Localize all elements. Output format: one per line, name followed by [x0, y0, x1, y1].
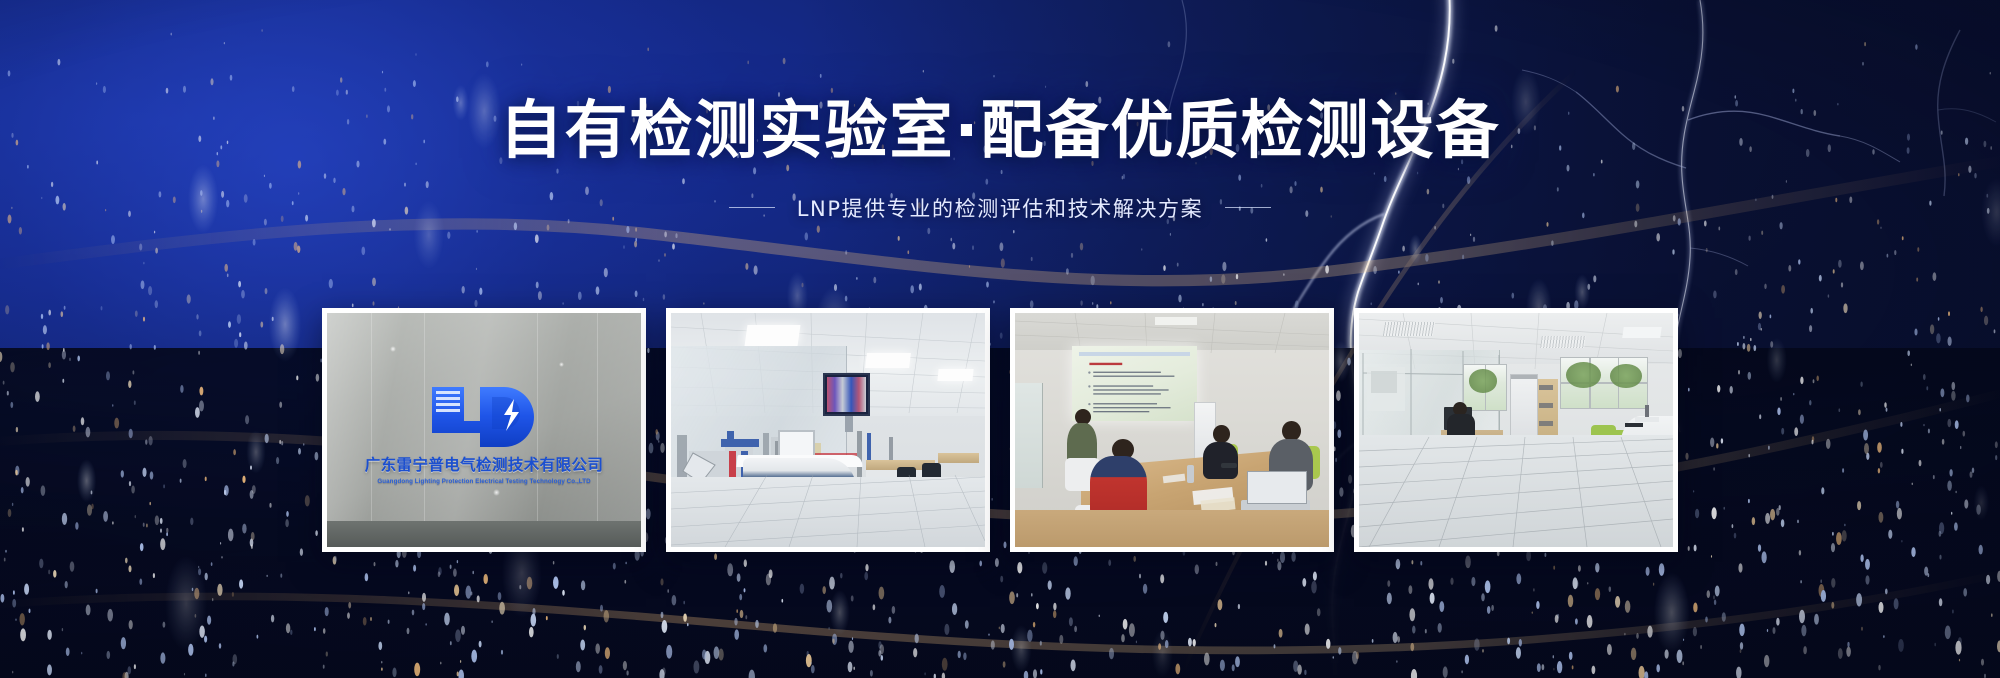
office-photo	[1359, 313, 1673, 547]
laboratory-photo	[671, 313, 985, 547]
light-speck	[493, 489, 500, 496]
slide-content	[1072, 346, 1198, 421]
ceiling-light	[865, 353, 911, 368]
slide-title-bar	[1079, 352, 1190, 356]
tree-foliage	[1610, 364, 1641, 387]
projection-screen	[1072, 346, 1198, 421]
gallery-card-company-sign[interactable]: 广东雷宁普电气检测技术有限公司 Guangdong Lighting Prote…	[322, 308, 646, 552]
company-name-cn: 广东雷宁普电气检测技术有限公司	[365, 453, 604, 475]
attendee-head	[1282, 421, 1301, 441]
meeting-room-photo	[1015, 313, 1329, 547]
ceiling-light	[1622, 327, 1661, 338]
rule-right-icon	[1225, 207, 1271, 208]
gallery-card-office[interactable]	[1354, 308, 1678, 552]
attendee-head	[1213, 425, 1230, 443]
page-subtitle: LNP提供专业的检测评估和技术解决方案	[797, 193, 1203, 223]
banner-stage: 自有检测实验室·配备优质检测设备 LNP提供专业的检测评估和技术解决方案	[0, 0, 2000, 678]
rule-left-icon	[729, 207, 775, 208]
page-title: 自有检测实验室·配备优质检测设备	[0, 96, 2000, 167]
floor	[1359, 435, 1673, 547]
wall-seam	[597, 313, 598, 547]
photo-gallery: 广东雷宁普电气检测技术有限公司 Guangdong Lighting Prote…	[0, 308, 2000, 552]
tree-foliage	[1566, 362, 1601, 388]
workstation-desk	[938, 453, 979, 462]
ceiling-vent	[1383, 322, 1436, 336]
monitor-stem	[845, 416, 853, 432]
ceiling-light	[745, 325, 801, 346]
gallery-card-laboratory[interactable]	[666, 308, 990, 552]
tree-foliage	[1469, 369, 1497, 392]
company-name-en: Guangdong Lighting Protection Electrical…	[377, 478, 590, 485]
ceiling-light	[937, 369, 973, 381]
subtitle-row: LNP提供专业的检测评估和技术解决方案	[0, 193, 2000, 223]
wall-seam	[371, 313, 372, 547]
company-sign-photo: 广东雷宁普电气检测技术有限公司 Guangdong Lighting Prote…	[327, 313, 641, 547]
glass-door	[1015, 383, 1043, 488]
wall-monitor	[823, 373, 870, 416]
floor	[671, 477, 985, 547]
banner-text-block: 自有检测实验室·配备优质检测设备 LNP提供专业的检测评估和技术解决方案	[0, 96, 2000, 223]
light-speck	[390, 346, 396, 352]
gallery-card-meeting-room[interactable]	[1010, 308, 1334, 552]
floor	[1015, 510, 1329, 547]
attendee-body	[1203, 442, 1238, 479]
lnp-logo-icon	[418, 381, 550, 447]
floor	[327, 521, 641, 547]
ceiling-vent	[1540, 336, 1586, 348]
